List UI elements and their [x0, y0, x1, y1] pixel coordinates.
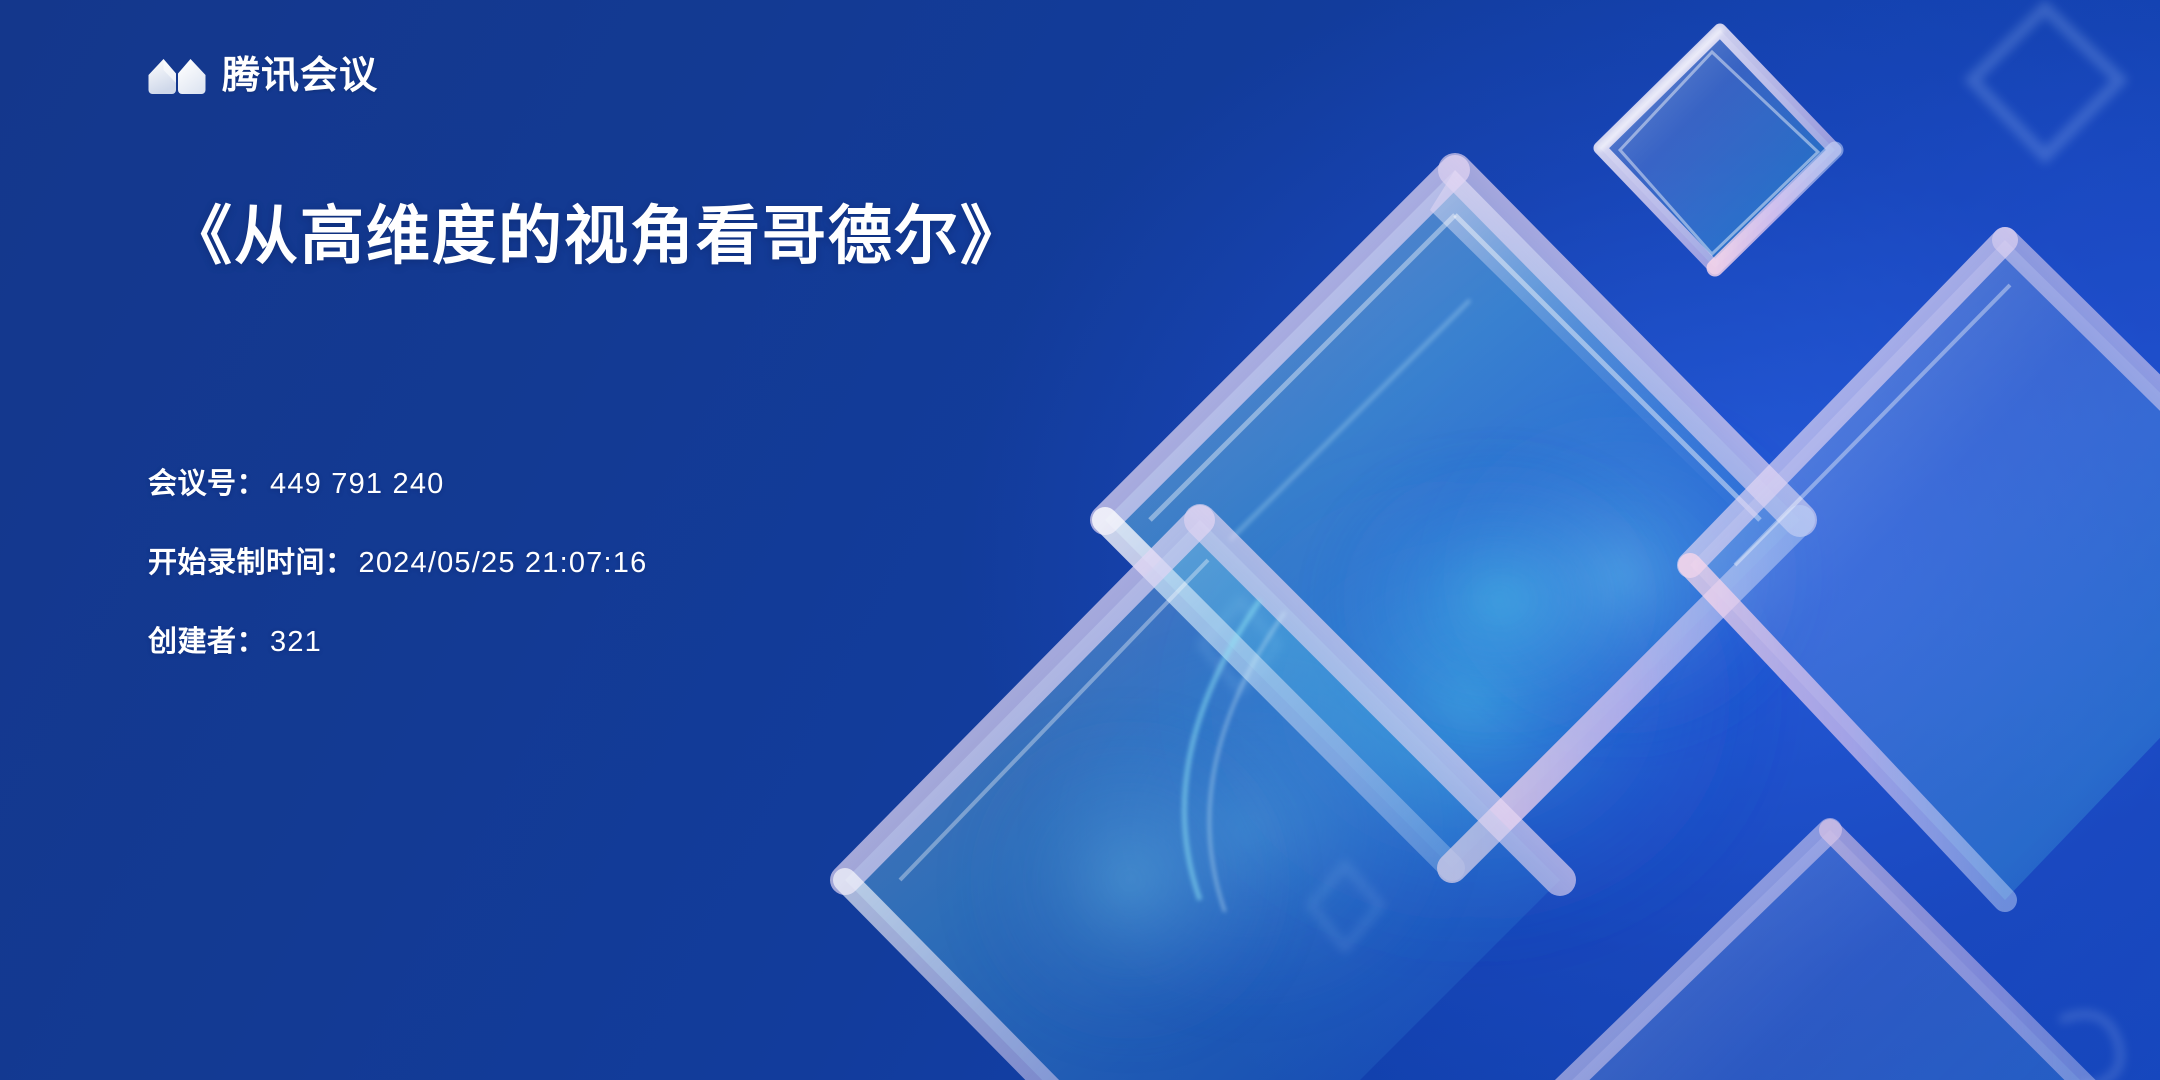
meta-row-creator: 创建者： 321: [148, 628, 647, 657]
tencent-meeting-mountain-logo-icon: [148, 54, 206, 98]
meeting-meta-list: 会议号： 449 791 240 开始录制时间： 2024/05/25 21:0…: [148, 470, 647, 657]
meta-row-meeting-id: 会议号： 449 791 240: [148, 470, 647, 499]
meta-label-record-start-time: 开始录制时间：: [148, 549, 355, 578]
meta-label-meeting-id: 会议号：: [148, 470, 266, 499]
brand-name: 腾讯会议: [222, 57, 378, 95]
page-title: 《从高维度的视角看哥德尔》: [168, 196, 1268, 276]
glass-cube-bottom-right: [1500, 830, 2160, 1080]
diamond-outline-top-right: [1972, 8, 2120, 156]
meta-value-meeting-id: 449 791 240: [270, 470, 444, 499]
meta-label-creator: 创建者：: [148, 628, 266, 657]
meeting-recording-cover: 腾讯会议 《从高维度的视角看哥德尔》 会议号： 449 791 240 开始录制…: [0, 0, 2160, 1080]
brand-logo: 腾讯会议: [148, 48, 378, 104]
diamond-outline-mid: [1202, 600, 1278, 690]
meta-value-record-start-time: 2024/05/25 21:07:16: [359, 549, 648, 578]
glass-cube-small: [1600, 30, 1835, 268]
glass-cube-lower: [845, 520, 1560, 1080]
meta-row-record-start-time: 开始录制时间： 2024/05/25 21:07:16: [148, 549, 647, 578]
meta-value-creator: 321: [270, 628, 322, 657]
glass-cube-right: [1690, 240, 2160, 900]
diamond-outline-lower: [1311, 865, 1380, 948]
